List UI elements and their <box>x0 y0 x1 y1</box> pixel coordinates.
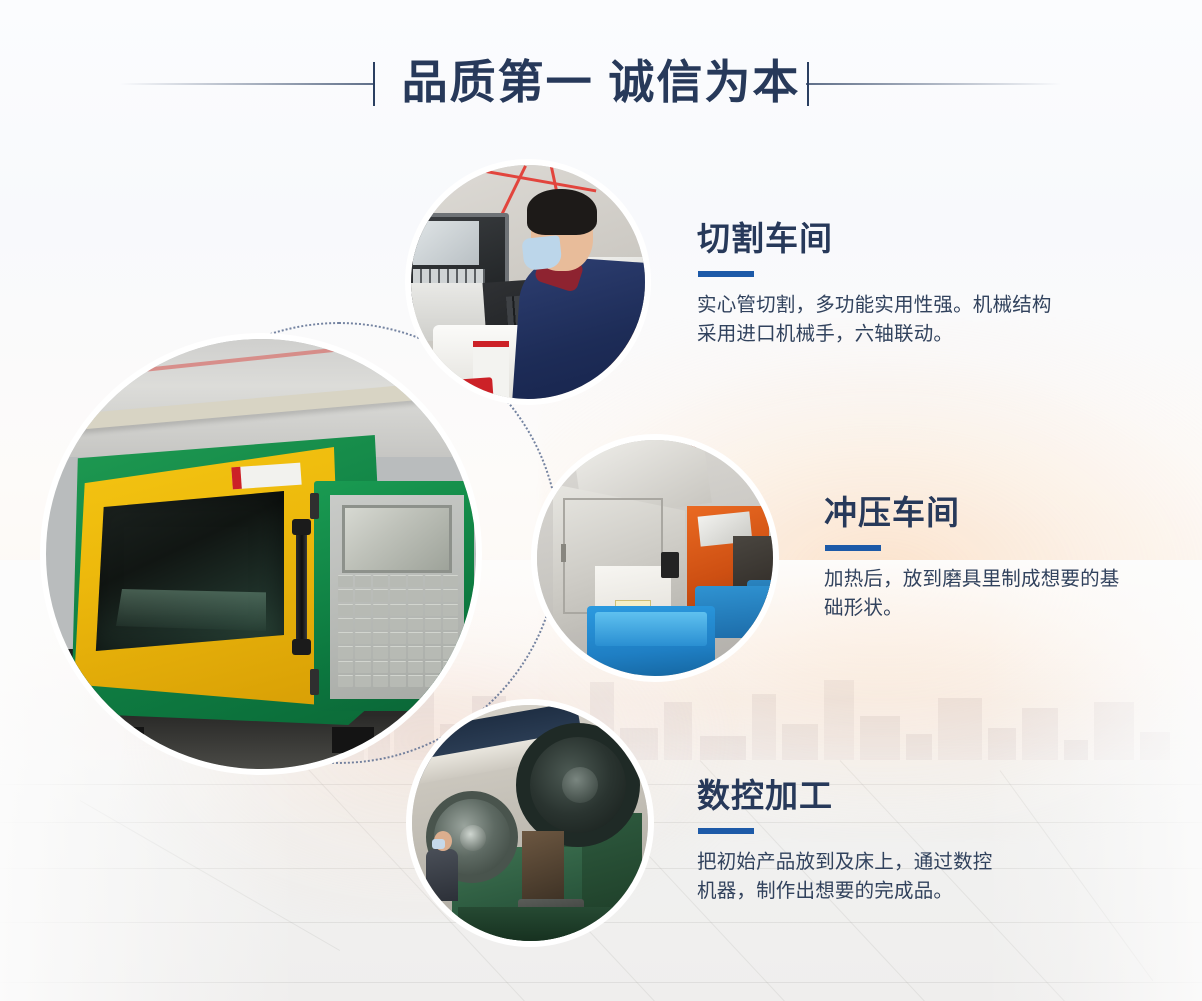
bucket-red-mark <box>438 377 494 399</box>
door-hinge <box>310 669 319 695</box>
worker-hair <box>527 189 597 235</box>
feature-title: 数控加工 <box>697 775 1097 817</box>
feature-description: 把初始产品放到及床上，通过数控 机器，制作出想要的完成品。 <box>697 848 1097 906</box>
cabinet-handle <box>561 544 566 562</box>
page-title: 品质第一 诚信为本 <box>0 46 1202 118</box>
feature-photo-cutting-workshop <box>411 165 645 399</box>
door-hinge <box>310 493 319 519</box>
cnc-monitor-screen <box>413 221 479 265</box>
pulley-hub <box>460 825 486 851</box>
feature-underline <box>698 271 754 277</box>
page-root: 品质第一 诚信为本 <box>0 0 1202 1001</box>
worker-face-mask <box>432 839 445 849</box>
feature-block-cnc-machining: 数控加工 把初始产品放到及床上，通过数控 机器，制作出想要的完成品。 <box>697 775 1097 906</box>
feature-underline <box>825 545 881 551</box>
feature-description: 加热后，放到磨具里制成想要的基 础形状。 <box>824 565 1194 623</box>
control-panel-screen <box>342 505 452 573</box>
feature-photo-stamping-workshop <box>537 440 773 676</box>
feature-description: 实心管切割，多功能实用性强。机械结构 采用进口机械手，六轴联动。 <box>697 291 1137 349</box>
page-header: 品质第一 诚信为本 <box>0 46 1202 118</box>
worker-body <box>426 849 458 901</box>
black-plate <box>661 552 679 578</box>
flywheel-hub <box>562 767 598 803</box>
machine-foot <box>102 727 144 753</box>
press-base <box>458 907 628 941</box>
header-rule-right <box>806 83 1061 85</box>
blue-crate-foreground <box>587 606 715 676</box>
feature-title: 冲压车间 <box>824 492 1194 534</box>
press-ram <box>522 831 564 901</box>
feature-underline <box>698 828 754 834</box>
feature-block-cutting-workshop: 切割车间 实心管切割，多功能实用性强。机械结构 采用进口机械手，六轴联动。 <box>697 218 1137 349</box>
feature-block-stamping-workshop: 冲压车间 加热后，放到磨具里制成想要的基 础形状。 <box>824 492 1194 623</box>
control-panel-keypad <box>338 575 458 687</box>
machine-foot <box>332 727 374 753</box>
feature-title: 切割车间 <box>697 218 1137 260</box>
window-reflection <box>116 589 266 631</box>
door-handle <box>296 527 307 647</box>
feature-photo-cnc-machining <box>412 705 648 941</box>
